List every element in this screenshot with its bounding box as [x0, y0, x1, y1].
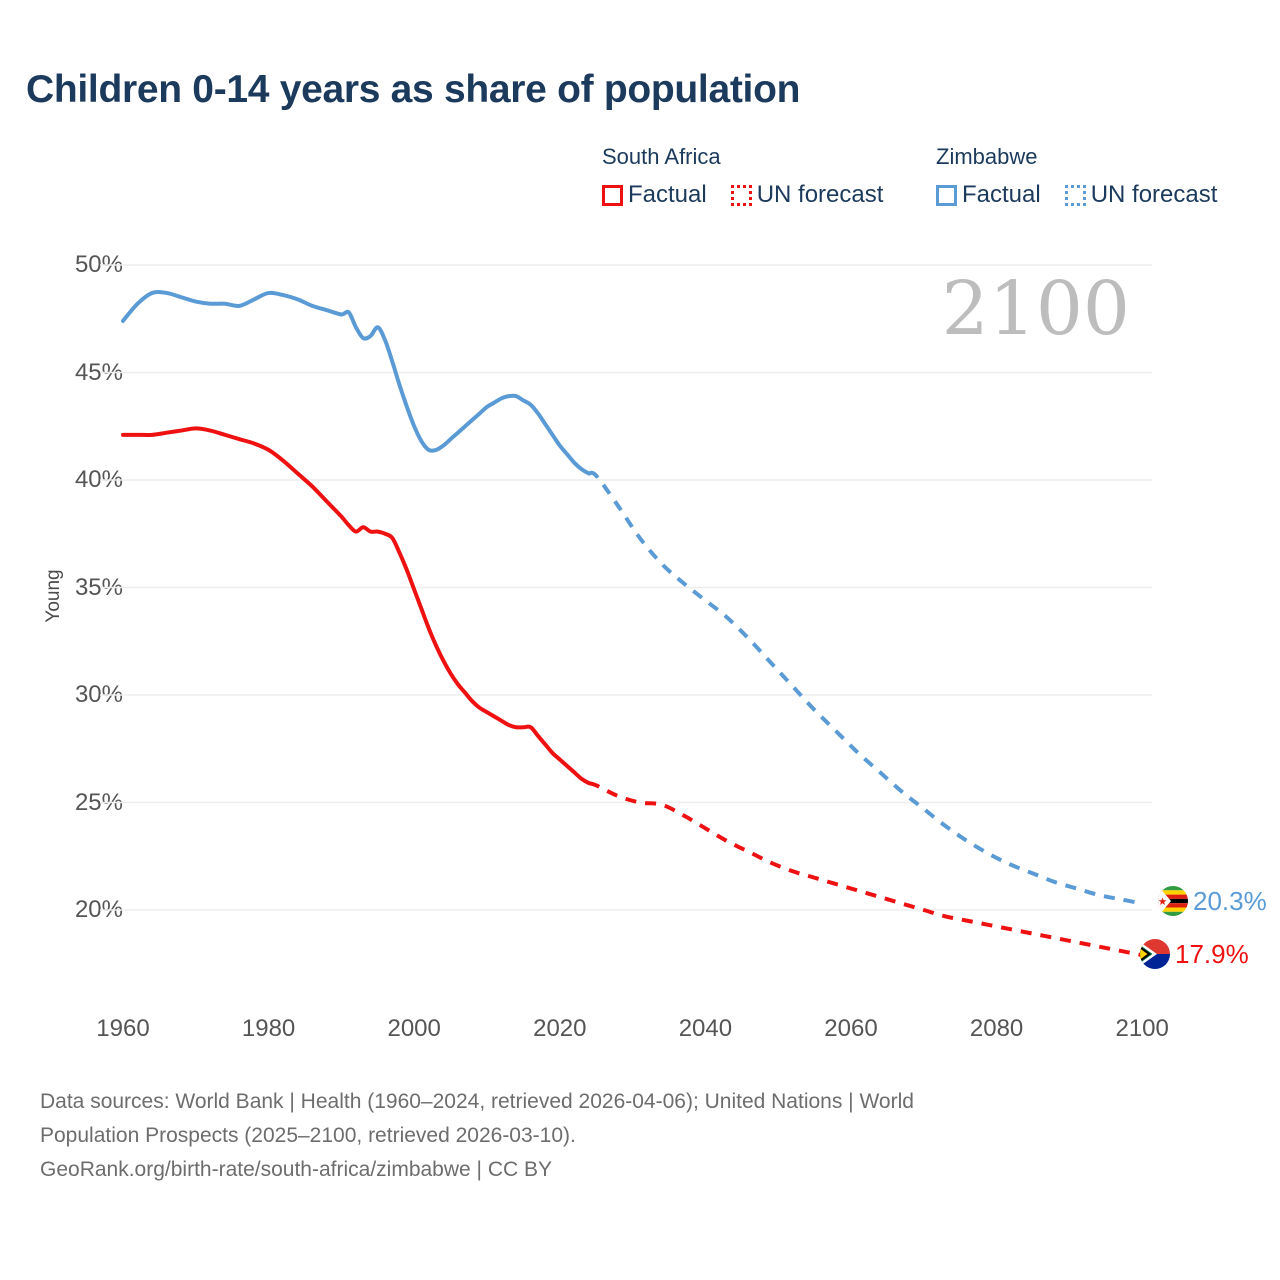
legend-country-label: South Africa [602, 144, 883, 170]
y-axis-tick-label: 40% [33, 468, 123, 492]
legend-item-label: Factual [628, 180, 707, 210]
series-line-factual [123, 292, 589, 474]
legend-item-label: UN forecast [757, 180, 884, 210]
y-axis-tick-label: 45% [33, 361, 123, 385]
chart-legend: South Africa Factual UN forecast Zimbabw… [602, 144, 1262, 220]
x-axis-tick-label: 1980 [209, 1015, 329, 1043]
x-axis-tick-label: 2100 [1082, 1015, 1202, 1043]
legend-swatch-solid-icon [936, 185, 957, 206]
legend-item-forecast-south-africa[interactable]: UN forecast [731, 180, 884, 210]
x-axis-tick-label: 2020 [500, 1015, 620, 1043]
footer-sources: Data sources: World Bank | Health (1960–… [40, 1085, 1160, 1187]
end-label-zimbabwe: 20.3% [1158, 886, 1267, 916]
legend-country-label: Zimbabwe [936, 144, 1217, 170]
end-label-value: 20.3% [1193, 886, 1267, 916]
footer-line-2: Population Prospects (2025–2100, retriev… [40, 1119, 1160, 1153]
x-axis-tick-label: 2060 [791, 1015, 911, 1043]
y-axis-tick-label: 50% [33, 253, 123, 277]
y-axis-tick-label: 30% [33, 683, 123, 707]
page-title: Children 0-14 years as share of populati… [26, 68, 800, 112]
legend-entries: Factual UN forecast [936, 180, 1217, 210]
x-axis-tick-label: 2080 [937, 1015, 1057, 1043]
legend-item-label: Factual [962, 180, 1041, 210]
legend-swatch-dotted-icon [731, 185, 752, 206]
y-axis-tick-label: 20% [33, 898, 123, 922]
x-axis-tick-label: 1960 [63, 1015, 183, 1043]
footer-line-1: Data sources: World Bank | Health (1960–… [40, 1085, 1160, 1119]
y-axis-tick-label: 35% [33, 576, 123, 600]
footer-line-3[interactable]: GeoRank.org/birth-rate/south-africa/zimb… [40, 1153, 1160, 1187]
zimbabwe-flag-icon [1158, 886, 1188, 916]
end-label-south-africa: 17.9% [1140, 939, 1249, 969]
gridlines [100, 265, 1152, 910]
legend-group-south-africa: South Africa Factual UN forecast [602, 144, 883, 210]
end-label-value: 17.9% [1175, 939, 1249, 969]
year-watermark: 2100 [942, 272, 1130, 346]
legend-item-factual-zimbabwe[interactable]: Factual [936, 180, 1041, 210]
legend-swatch-dotted-icon [1065, 185, 1086, 206]
legend-group-zimbabwe: Zimbabwe Factual UN forecast [936, 144, 1217, 210]
y-axis-tick-label: 25% [33, 791, 123, 815]
series-line-forecast [589, 783, 1142, 955]
south-africa-flag-icon [1140, 939, 1170, 969]
series-line-forecast [589, 473, 1142, 904]
series-lines [123, 292, 1142, 955]
x-axis-tick-label: 2000 [354, 1015, 474, 1043]
x-axis-tick-label: 2040 [645, 1015, 765, 1043]
legend-entries: Factual UN forecast [602, 180, 883, 210]
legend-item-forecast-zimbabwe[interactable]: UN forecast [1065, 180, 1218, 210]
legend-item-label: UN forecast [1091, 180, 1218, 210]
chart-page: Children 0-14 years as share of populati… [0, 0, 1280, 1280]
series-line-factual [123, 428, 589, 783]
legend-item-factual-south-africa[interactable]: Factual [602, 180, 707, 210]
legend-swatch-solid-icon [602, 185, 623, 206]
